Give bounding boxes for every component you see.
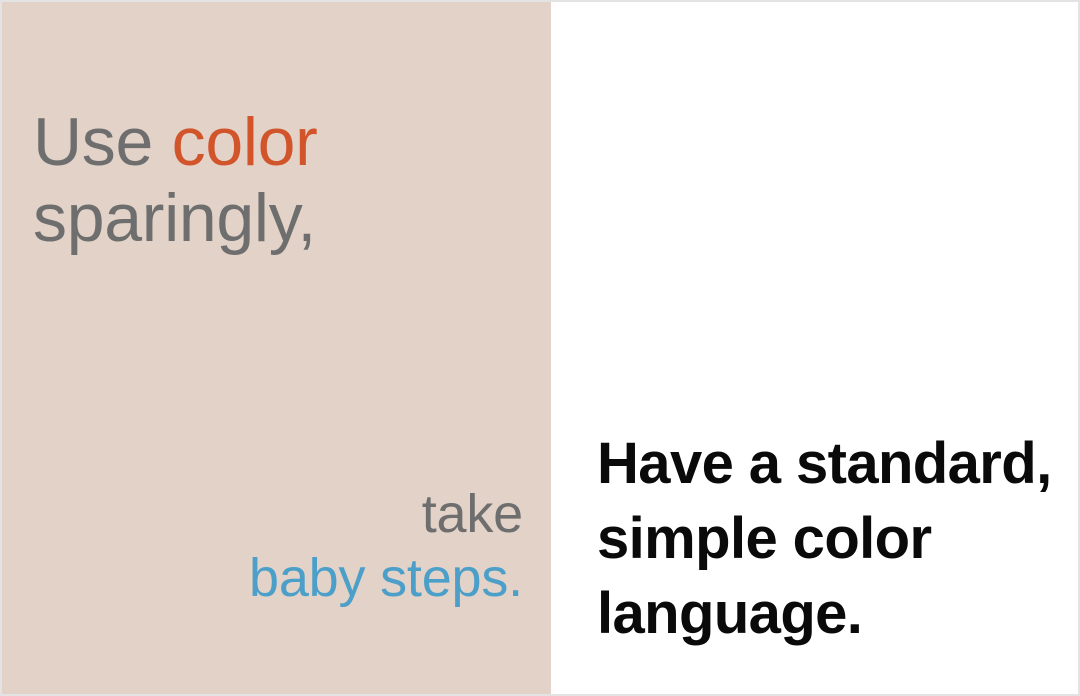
right-white-panel: Have a standard, simple color language.: [551, 2, 1078, 694]
subline-take-baby-steps: take baby steps.: [43, 482, 523, 610]
statement-standard-simple-color-language: Have a standard, simple color language.: [597, 426, 1067, 651]
headline-word-color-accent: color: [172, 104, 318, 180]
subline-line-take: take: [43, 482, 523, 546]
subline-line-baby-steps-accent: baby steps.: [43, 546, 523, 610]
left-beige-panel: Use color sparingly, take baby steps.: [2, 2, 551, 694]
headline-line-1: Use color: [33, 104, 533, 180]
slide-canvas: Use color sparingly, take baby steps. Ha…: [0, 0, 1080, 696]
headline-word-use: Use: [33, 104, 172, 180]
headline-line-2: sparingly,: [33, 180, 533, 256]
statement-line-2: simple color: [597, 501, 1067, 576]
statement-line-3: language.: [597, 576, 1067, 651]
statement-line-1: Have a standard,: [597, 426, 1067, 501]
headline-use-color-sparingly: Use color sparingly,: [33, 104, 533, 256]
